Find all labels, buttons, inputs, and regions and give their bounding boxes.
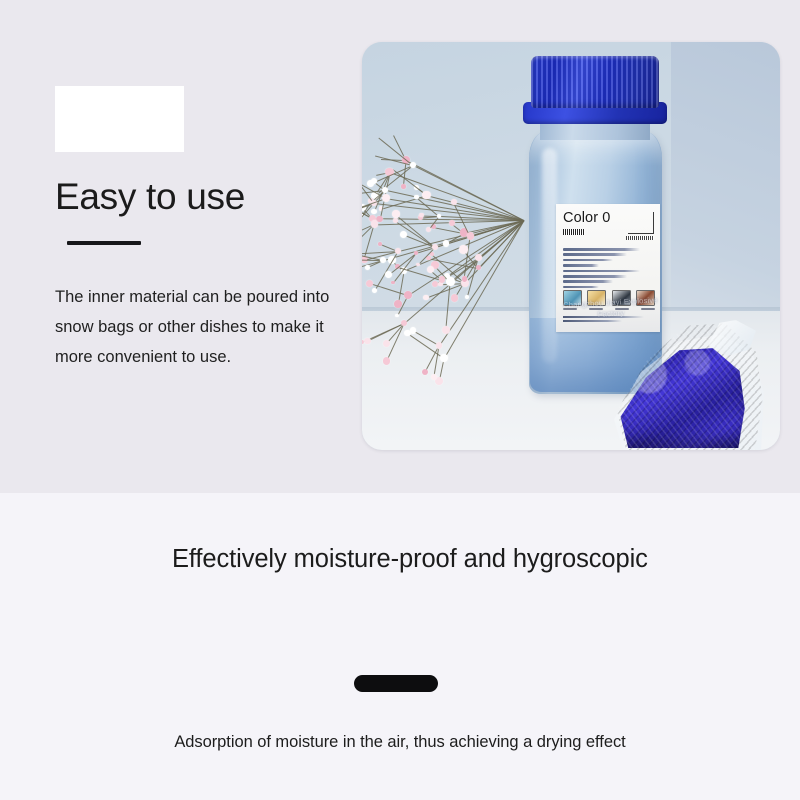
flower-bud xyxy=(422,369,428,375)
flower-bud xyxy=(416,263,420,267)
flower-bud xyxy=(395,248,401,254)
flower-bud xyxy=(465,295,469,299)
flower-bud xyxy=(364,338,371,345)
flower-bud xyxy=(443,240,450,247)
flower-bud xyxy=(432,244,438,250)
bottom-feature-section: Effectively moisture-proof and hygroscop… xyxy=(0,493,800,800)
flower-bud xyxy=(423,295,428,300)
product-banner-page: Easy to use The inner material can be po… xyxy=(0,0,800,800)
flower-bud xyxy=(372,288,377,293)
flower-bud xyxy=(365,265,370,270)
flower-bud xyxy=(391,281,395,285)
flower-bud xyxy=(382,187,388,193)
pill-divider xyxy=(354,675,438,692)
flower-bud xyxy=(383,357,390,364)
flower-branch xyxy=(364,225,375,260)
feature-description: The inner material can be poured into sn… xyxy=(55,282,333,372)
flower-bud xyxy=(404,291,412,299)
label-chinese-text-lines xyxy=(563,248,654,291)
top-feature-section: Easy to use The inner material can be po… xyxy=(0,0,800,493)
flower-bud xyxy=(371,209,377,215)
flower-bud xyxy=(401,184,405,188)
flower-bud xyxy=(439,276,446,283)
flower-bud xyxy=(436,342,442,348)
flower-bud xyxy=(414,251,418,255)
flower-bud xyxy=(382,194,390,202)
bottle-cap-ridges xyxy=(531,56,659,108)
blank-white-plate xyxy=(55,86,184,152)
flower-bud xyxy=(366,280,373,287)
flower-bud xyxy=(467,232,475,240)
flower-bud xyxy=(400,231,407,238)
flower-bud xyxy=(378,242,382,246)
flower-bud xyxy=(446,277,454,285)
flower-bud xyxy=(371,178,377,184)
photo-wall-right-panel xyxy=(671,42,780,336)
product-photo: {} Color 0 xyxy=(362,42,780,450)
flower-bud xyxy=(432,281,438,287)
flower-bud xyxy=(401,320,407,326)
flower-bud xyxy=(476,265,481,270)
feature-text-block: Easy to use The inner material can be po… xyxy=(55,86,345,372)
flower-bud xyxy=(371,220,379,228)
flower-bud xyxy=(383,340,390,347)
flower-bud xyxy=(395,314,399,318)
bottle-cap xyxy=(531,56,659,108)
flower-bud xyxy=(475,254,482,261)
section-subline: Adsorption of moisture in the air, thus … xyxy=(0,733,800,752)
label-corner-bracket xyxy=(628,212,654,234)
flower-bud xyxy=(422,191,430,199)
silica-gel-bag xyxy=(614,318,764,450)
flower-bud xyxy=(451,294,459,302)
flower-bud xyxy=(393,218,397,222)
flower-bud xyxy=(414,195,418,199)
flower-bud xyxy=(380,257,386,263)
section-headline: Effectively moisture-proof and hygroscop… xyxy=(172,541,672,578)
flower-bud xyxy=(462,276,468,282)
flower-bud xyxy=(440,354,448,362)
flower-bud xyxy=(459,245,467,253)
label-barcode xyxy=(563,229,585,235)
feature-title: Easy to use xyxy=(55,177,345,217)
flower-bud xyxy=(442,326,450,334)
flower-bud xyxy=(427,266,434,273)
flower-bud xyxy=(451,199,457,205)
flower-bud xyxy=(426,227,431,232)
title-underline-rule xyxy=(67,241,141,245)
label-code-strip xyxy=(626,236,654,240)
flower-bud xyxy=(392,210,399,217)
flower-bud xyxy=(437,214,441,218)
flower-bud xyxy=(385,271,392,278)
flower-bud xyxy=(410,162,416,168)
